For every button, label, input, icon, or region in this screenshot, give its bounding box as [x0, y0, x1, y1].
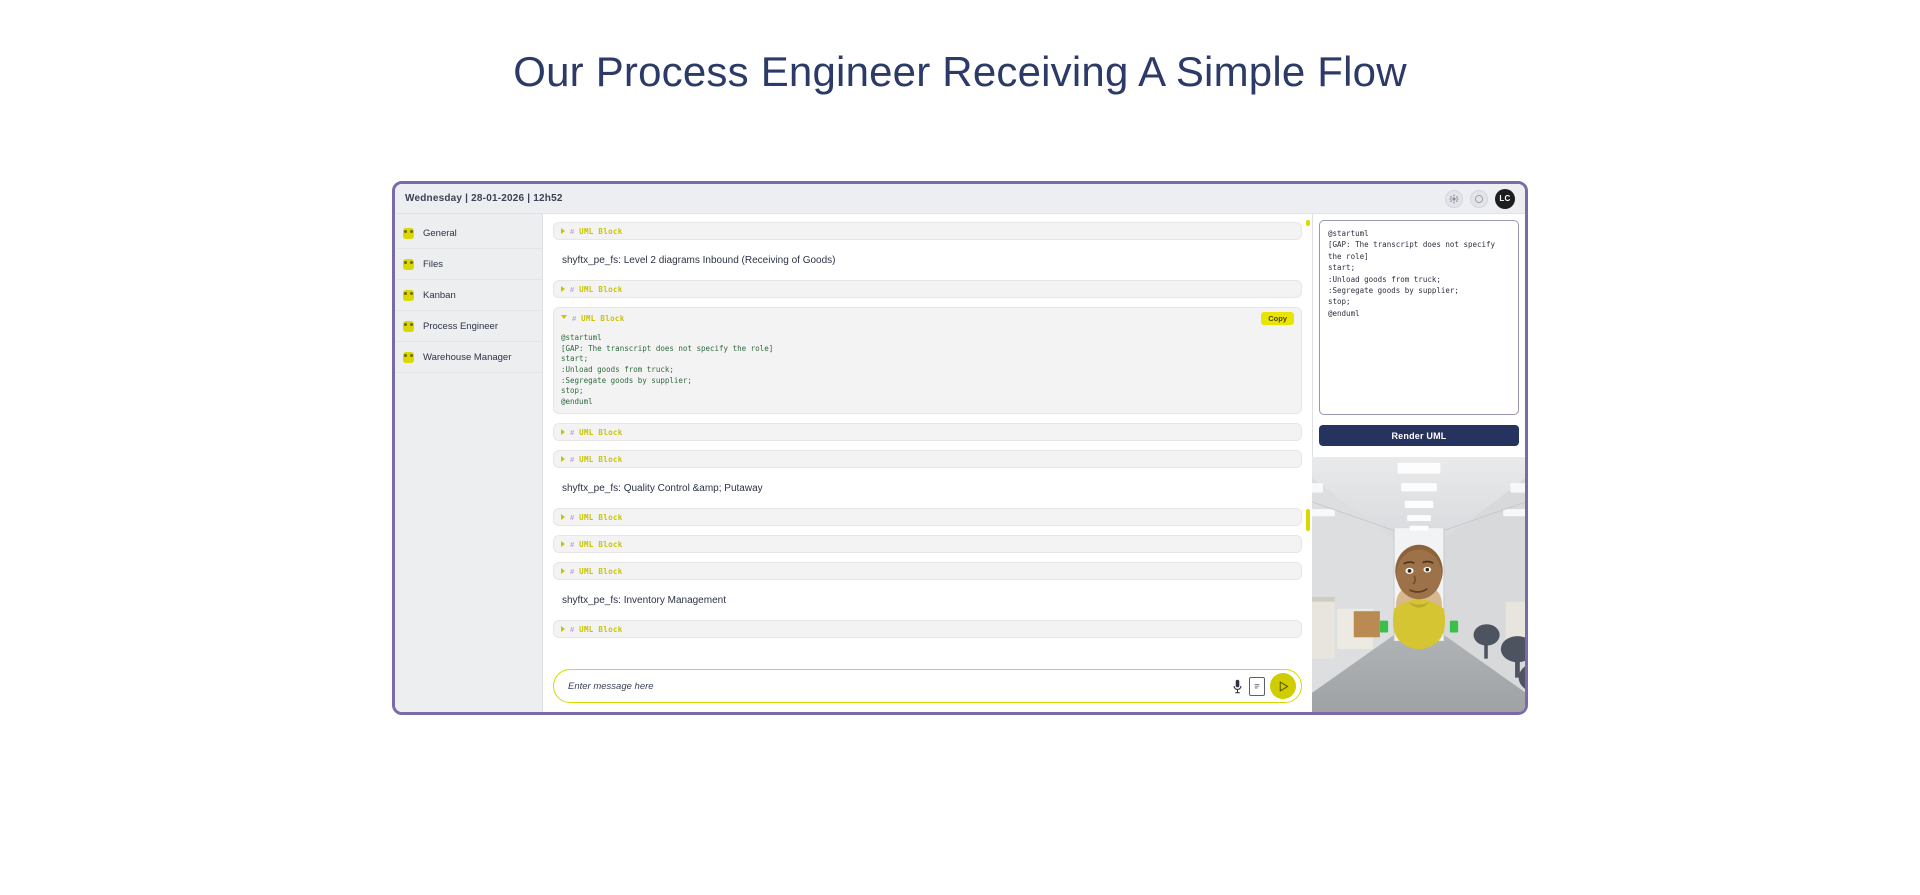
uml-block-collapsed[interactable]: # UML Block	[553, 562, 1302, 580]
avatar-stage	[1312, 457, 1526, 712]
message-input[interactable]	[568, 681, 1227, 692]
sidebar-item-general[interactable]: General	[395, 218, 542, 249]
hash-icon: #	[570, 455, 574, 464]
hash-icon: #	[570, 540, 574, 549]
uml-block-label: UML Block	[581, 314, 624, 323]
copy-button[interactable]: Copy	[1261, 312, 1294, 325]
uml-block-collapsed[interactable]: # UML Block	[553, 620, 1302, 638]
page-title: Our Process Engineer Receiving A Simple …	[0, 0, 1920, 96]
composer-area	[543, 665, 1312, 712]
uml-block-collapsed[interactable]: # UML Block	[553, 222, 1302, 240]
chevron-right-icon	[561, 568, 565, 574]
uml-block-collapsed[interactable]: # UML Block	[553, 508, 1302, 526]
sidebar-item-label: Process Engineer	[423, 321, 498, 332]
folder-icon	[403, 228, 414, 239]
chevron-right-icon	[561, 228, 565, 234]
uml-block-label: UML Block	[579, 227, 622, 236]
sidebar-item-files[interactable]: Files	[395, 249, 542, 280]
chevron-right-icon	[561, 456, 565, 462]
app-window: Wednesday | 28-01-2026 | 12h52 LC Genera…	[392, 181, 1528, 715]
hash-icon: #	[572, 314, 576, 323]
chat-message: shyftx_pe_fs: Level 2 diagrams Inbound (…	[553, 249, 1302, 272]
chevron-right-icon	[561, 541, 565, 547]
sidebar: General Files Kanban Process Engineer Wa…	[395, 214, 543, 712]
circle-icon[interactable]	[1470, 190, 1488, 208]
document-attach-icon[interactable]	[1247, 676, 1267, 696]
avatar[interactable]: LC	[1495, 189, 1515, 209]
hash-icon: #	[570, 285, 574, 294]
uml-block-collapsed[interactable]: # UML Block	[553, 535, 1302, 553]
send-button[interactable]	[1270, 673, 1296, 699]
chevron-right-icon	[561, 514, 565, 520]
app-body: General Files Kanban Process Engineer Wa…	[395, 214, 1525, 712]
sidebar-item-label: Files	[423, 259, 443, 270]
hash-icon: #	[570, 513, 574, 522]
folder-icon	[403, 290, 414, 301]
chat-message-list[interactable]: # UML Block shyftx_pe_fs: Level 2 diagra…	[543, 214, 1312, 665]
chevron-right-icon	[561, 286, 565, 292]
topbar-datetime: Wednesday | 28-01-2026 | 12h52	[405, 193, 563, 204]
chat-message: shyftx_pe_fs: Quality Control &amp; Puta…	[553, 477, 1302, 500]
topbar-actions: LC	[1445, 189, 1515, 209]
uml-block-label: UML Block	[579, 455, 622, 464]
folder-icon	[403, 352, 414, 363]
chat-column: # UML Block shyftx_pe_fs: Level 2 diagra…	[543, 214, 1312, 712]
hash-icon: #	[570, 428, 574, 437]
uml-block-label: UML Block	[579, 285, 622, 294]
folder-icon	[403, 321, 414, 332]
uml-code-content: @startuml [GAP: The transcript does not …	[561, 333, 773, 407]
sidebar-item-warehouse-manager[interactable]: Warehouse Manager	[395, 342, 542, 373]
uml-block-collapsed[interactable]: # UML Block	[553, 450, 1302, 468]
sidebar-item-process-engineer[interactable]: Process Engineer	[395, 311, 542, 342]
uml-block-label: UML Block	[579, 513, 622, 522]
app-topbar: Wednesday | 28-01-2026 | 12h52 LC	[395, 184, 1525, 214]
avatar-character	[1393, 545, 1445, 649]
sidebar-item-label: Warehouse Manager	[423, 352, 511, 363]
chevron-down-icon	[561, 315, 567, 322]
uml-block-collapsed[interactable]: # UML Block	[553, 280, 1302, 298]
office-corridor-scene	[1312, 457, 1526, 712]
sidebar-item-label: Kanban	[423, 290, 456, 301]
hash-icon: #	[570, 567, 574, 576]
uml-source-textarea[interactable]	[1319, 220, 1519, 415]
uml-block-header[interactable]: # UML Block Copy	[561, 312, 1294, 325]
folder-icon	[403, 259, 414, 270]
scrollbar-thumb[interactable]	[1306, 509, 1310, 531]
hash-icon: #	[570, 625, 574, 634]
chevron-right-icon	[561, 626, 565, 632]
chat-message: shyftx_pe_fs: Inventory Management	[553, 589, 1302, 612]
uml-block-label: UML Block	[579, 428, 622, 437]
uml-side-panel: Render UML	[1312, 214, 1525, 712]
uml-block-expanded[interactable]: # UML Block Copy @startuml [GAP: The tra…	[553, 307, 1302, 414]
hash-icon: #	[570, 227, 574, 236]
uml-block-collapsed[interactable]: # UML Block	[553, 423, 1302, 441]
uml-block-label: UML Block	[579, 625, 622, 634]
scrollbar-thumb[interactable]	[1306, 220, 1310, 226]
sidebar-item-kanban[interactable]: Kanban	[395, 280, 542, 311]
gear-icon[interactable]	[1445, 190, 1463, 208]
render-uml-button[interactable]: Render UML	[1319, 425, 1519, 446]
message-composer	[553, 669, 1302, 703]
microphone-icon[interactable]	[1227, 676, 1247, 696]
chevron-right-icon	[561, 429, 565, 435]
sidebar-item-label: General	[423, 228, 457, 239]
uml-block-label: UML Block	[579, 540, 622, 549]
uml-block-label: UML Block	[579, 567, 622, 576]
